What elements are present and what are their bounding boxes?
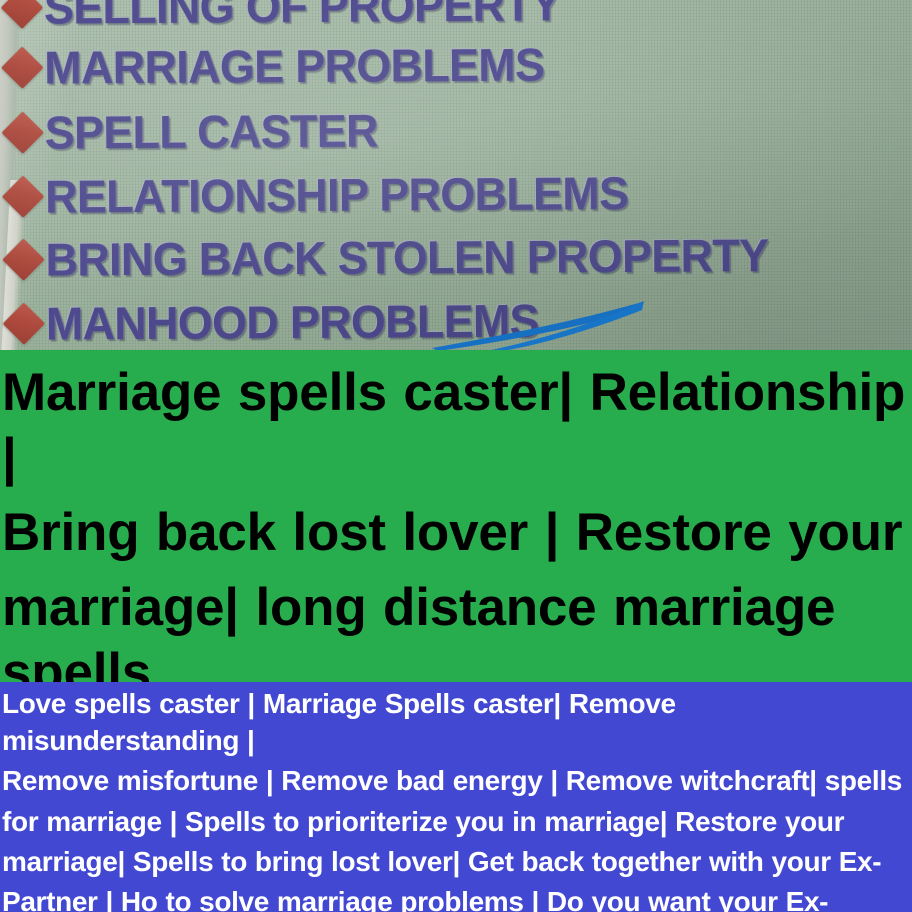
blue-body-line: for marriage | Spells to prioriterize yo… [0, 800, 912, 840]
blue-body-line: marriage| Spells to bring lost lover| Ge… [0, 840, 912, 880]
signboard-list-item: SELLING OF PROPERTY [7, 0, 577, 37]
signboard-photo: SELLING OF PROPERTY MARRIAGE PROBLEMS SP… [0, 0, 912, 350]
diamond-bullet-icon [3, 302, 45, 344]
green-headline-line: Marriage spells caster| Relationship | [0, 350, 912, 490]
diamond-bullet-icon [1, 46, 43, 88]
signboard-item-label: RELATIONSHIP PROBLEMS [45, 170, 628, 220]
blue-body-line: Remove misfortune | Remove bad energy | … [0, 759, 912, 799]
signboard-list-item: MARRIAGE PROBLEMS [7, 35, 560, 96]
green-headline-line: Bring back lost lover | Restore your [0, 490, 912, 565]
diamond-bullet-icon [1, 0, 43, 29]
green-headline-line: marriage| long distance marriage spells [0, 565, 912, 682]
signboard-service-list: SELLING OF PROPERTY MARRIAGE PROBLEMS SP… [0, 0, 912, 350]
diamond-bullet-icon [2, 175, 44, 217]
diamond-bullet-icon [2, 238, 44, 280]
blue-body-line: Partner | Ho to solve marriage problems … [0, 880, 912, 912]
signboard-item-label: MANHOOD PROBLEMS [46, 297, 539, 346]
signboard-item-label: SELLING OF PROPERTY [44, 0, 561, 31]
signboard-item-label: BRING BACK STOLEN PROPERTY [45, 232, 768, 282]
signboard-item-label: SPELL CASTER [45, 107, 378, 155]
green-headline-banner: Marriage spells caster| Relationship | B… [0, 350, 912, 682]
blue-services-block: Love spells caster | Marriage Spells cas… [0, 682, 912, 912]
signboard-item-label: MARRIAGE PROBLEMS [44, 41, 544, 90]
diamond-bullet-icon [2, 111, 44, 153]
advert-poster: SELLING OF PROPERTY MARRIAGE PROBLEMS SP… [0, 0, 912, 912]
signboard-list-item: SPELL CASTER [8, 101, 389, 161]
signboard-list-item: BRING BACK STOLEN PROPERTY [8, 226, 791, 289]
signboard-list-item: RELATIONSHIP PROBLEMS [8, 164, 647, 226]
signboard-list-item: MANHOOD PROBLEMS [9, 291, 555, 350]
blue-body-line: Love spells caster | Marriage Spells cas… [0, 682, 912, 759]
